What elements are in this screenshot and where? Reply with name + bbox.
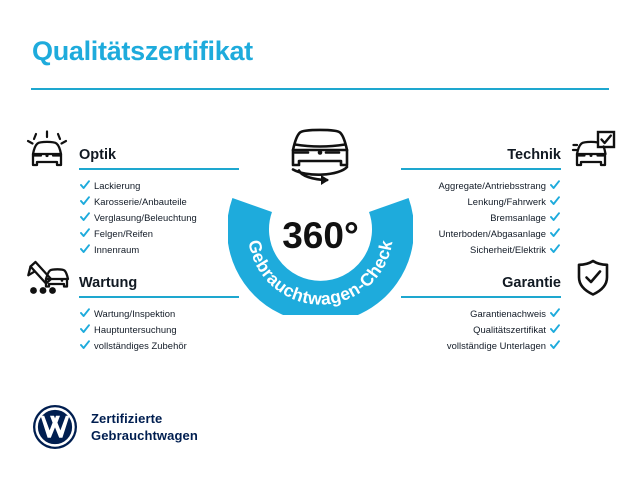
- badge-center-label: 360°: [282, 215, 359, 256]
- list-item: Garantienachweis: [403, 306, 618, 322]
- section-optik: Optik Lackierung Karosserie/Anbauteile V…: [22, 128, 237, 258]
- list-item: Lenkung/Fahrwerk: [403, 194, 618, 210]
- check-icon: [80, 340, 90, 350]
- list-item: Felgen/Reifen: [22, 226, 237, 242]
- list-item-label: Verglasung/Beleuchtung: [94, 212, 197, 223]
- list-item-label: vollständiges Zubehör: [94, 340, 187, 351]
- list-item-label: Garantienachweis: [470, 308, 546, 319]
- list-item: Bremsanlage: [403, 210, 618, 226]
- list-item: Karosserie/Anbauteile: [22, 194, 237, 210]
- list-item-label: vollständige Unterlagen: [447, 340, 546, 351]
- section-garantie-list: Garantienachweis Qualitätszertifikat vol…: [403, 306, 618, 354]
- section-technik: Technik Aggregate/Antriebsstrang Lenkung…: [403, 128, 618, 258]
- list-item-label: Felgen/Reifen: [94, 228, 153, 239]
- section-garantie-header: Garantie: [403, 256, 618, 300]
- footer-text: Zertifizierte Gebrauchtwagen: [91, 410, 198, 444]
- list-item: vollständiges Zubehör: [22, 338, 237, 354]
- section-wartung: Wartung Wartung/Inspektion Hauptuntersuc…: [22, 256, 237, 354]
- check-icon: [550, 244, 560, 254]
- check-icon: [80, 244, 90, 254]
- car-rotate-360-icon: [277, 124, 363, 186]
- list-item-label: Unterboden/Abgasanlage: [439, 228, 546, 239]
- page-title: Qualitätszertifikat: [32, 36, 253, 67]
- list-item: Unterboden/Abgasanlage: [403, 226, 618, 242]
- check-icon: [80, 324, 90, 334]
- list-item: vollständige Unterlagen: [403, 338, 618, 354]
- check-icon: [550, 340, 560, 350]
- list-item-label: Aggregate/Antriebsstrang: [438, 180, 546, 191]
- check-icon: [550, 228, 560, 238]
- list-item-label: Sicherheit/Elektrik: [470, 244, 546, 255]
- list-item-label: Innenraum: [94, 244, 139, 255]
- list-item-label: Lenkung/Fahrwerk: [468, 196, 546, 207]
- check-icon: [550, 212, 560, 222]
- section-technik-divider: [401, 168, 561, 170]
- list-item-label: Karosserie/Anbauteile: [94, 196, 187, 207]
- section-optik-list: Lackierung Karosserie/Anbauteile Verglas…: [22, 178, 237, 258]
- list-item: Wartung/Inspektion: [22, 306, 237, 322]
- car-shine-icon: [24, 130, 70, 170]
- vw-logo: [31, 403, 79, 451]
- list-item: Aggregate/Antriebsstrang: [403, 178, 618, 194]
- list-item-label: Bremsanlage: [490, 212, 546, 223]
- section-garantie-divider: [401, 296, 561, 298]
- check-icon: [550, 308, 560, 318]
- check-icon: [80, 228, 90, 238]
- footer-line-1: Zertifizierte: [91, 410, 198, 427]
- list-item-label: Hauptuntersuchung: [94, 324, 177, 335]
- check-icon: [550, 324, 560, 334]
- section-technik-title: Technik: [507, 147, 561, 163]
- list-item: Verglasung/Beleuchtung: [22, 210, 237, 226]
- check-icon: [80, 180, 90, 190]
- certificate-page: Qualitätszertifikat: [0, 0, 640, 480]
- section-wartung-list: Wartung/Inspektion Hauptuntersuchung vol…: [22, 306, 237, 354]
- section-garantie-title: Garantie: [502, 275, 561, 291]
- section-wartung-divider: [79, 296, 239, 298]
- section-optik-divider: [79, 168, 239, 170]
- shield-check-icon: [570, 258, 616, 298]
- section-technik-list: Aggregate/Antriebsstrang Lenkung/Fahrwer…: [403, 178, 618, 258]
- car-pen-service-icon: [24, 258, 70, 298]
- car-checkbox-icon: [570, 130, 616, 170]
- check-icon: [550, 196, 560, 206]
- list-item: Lackierung: [22, 178, 237, 194]
- list-item-label: Qualitätszertifikat: [473, 324, 546, 335]
- section-wartung-header: Wartung: [22, 256, 237, 300]
- section-wartung-title: Wartung: [79, 275, 137, 291]
- footer-line-2: Gebrauchtwagen: [91, 427, 198, 444]
- list-item: Hauptuntersuchung: [22, 322, 237, 338]
- section-technik-header: Technik: [403, 128, 618, 172]
- check-icon: [80, 196, 90, 206]
- list-item-label: Wartung/Inspektion: [94, 308, 175, 319]
- check-icon: [80, 308, 90, 318]
- check-icon: [80, 212, 90, 222]
- list-item-label: Lackierung: [94, 180, 140, 191]
- title-divider: [31, 88, 609, 90]
- section-garantie: Garantie Garantienachweis Qualitätszerti…: [403, 256, 618, 354]
- check-icon: [550, 180, 560, 190]
- footer-brand: Zertifizierte Gebrauchtwagen: [31, 403, 198, 451]
- list-item: Qualitätszertifikat: [403, 322, 618, 338]
- section-optik-header: Optik: [22, 128, 237, 172]
- section-optik-title: Optik: [79, 147, 116, 163]
